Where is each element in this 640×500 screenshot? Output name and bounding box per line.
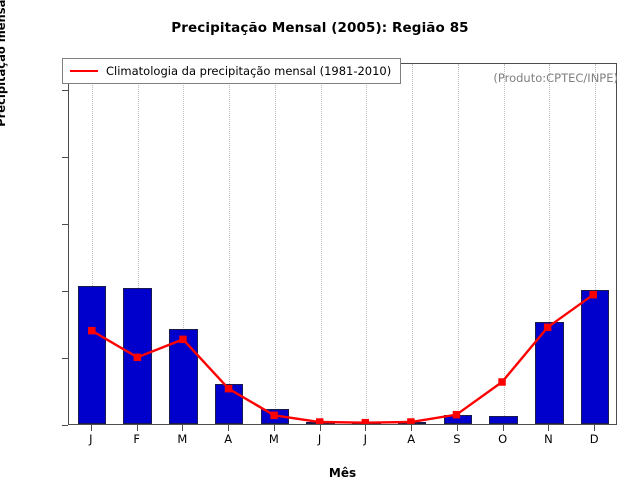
x-tick-mark (411, 425, 412, 431)
x-tick-label: J (69, 432, 113, 446)
x-tick-label: O (481, 432, 525, 446)
climatology-marker (88, 327, 95, 334)
climatology-marker (453, 411, 460, 418)
legend: Climatologia da precipitação mensal (198… (62, 58, 401, 84)
x-tick-mark (274, 425, 275, 431)
y-tick-mark (62, 358, 68, 359)
y-tick-mark (62, 425, 68, 426)
climatology-marker (498, 378, 505, 385)
x-tick-mark (365, 425, 366, 431)
climatology-marker (544, 324, 551, 331)
legend-line-swatch-icon (70, 70, 98, 72)
x-tick-label: F (115, 432, 159, 446)
x-tick-label: M (252, 432, 296, 446)
chart-figure: Precipitação Mensal (2005): Região 85 Pr… (0, 0, 640, 500)
y-tick-mark (62, 291, 68, 292)
x-tick-label: J (343, 432, 387, 446)
climatology-line-series (69, 64, 616, 424)
x-tick-mark (91, 425, 92, 431)
climatology-marker (362, 419, 369, 424)
x-tick-label: J (298, 432, 342, 446)
climatology-line (92, 295, 593, 423)
climatology-marker (225, 385, 232, 392)
legend-label: Climatologia da precipitação mensal (198… (106, 64, 391, 78)
x-tick-mark (457, 425, 458, 431)
x-tick-mark (320, 425, 321, 431)
x-tick-label: A (389, 432, 433, 446)
x-axis-label: Mês (68, 466, 617, 480)
x-tick-label: M (160, 432, 204, 446)
x-tick-label: D (572, 432, 616, 446)
x-tick-label: S (435, 432, 479, 446)
climatology-marker (179, 336, 186, 343)
product-annotation: (Produto:CPTEC/INPE) (493, 71, 618, 85)
y-tick-mark (62, 157, 68, 158)
plot-area (68, 63, 617, 425)
chart-title: Precipitação Mensal (2005): Região 85 (0, 20, 640, 36)
climatology-marker (589, 291, 596, 298)
climatology-marker (270, 412, 277, 419)
x-tick-mark (503, 425, 504, 431)
y-tick-mark (62, 224, 68, 225)
climatology-marker (407, 418, 414, 424)
x-tick-mark (548, 425, 549, 431)
climatology-marker (134, 354, 141, 361)
y-tick-mark (62, 90, 68, 91)
x-tick-mark (594, 425, 595, 431)
x-tick-mark (228, 425, 229, 431)
climatology-marker (316, 418, 323, 424)
x-tick-label: A (206, 432, 250, 446)
x-tick-label: N (526, 432, 570, 446)
y-axis-label: Precipitação mensal (mm) (0, 0, 8, 152)
x-tick-mark (137, 425, 138, 431)
x-tick-mark (182, 425, 183, 431)
